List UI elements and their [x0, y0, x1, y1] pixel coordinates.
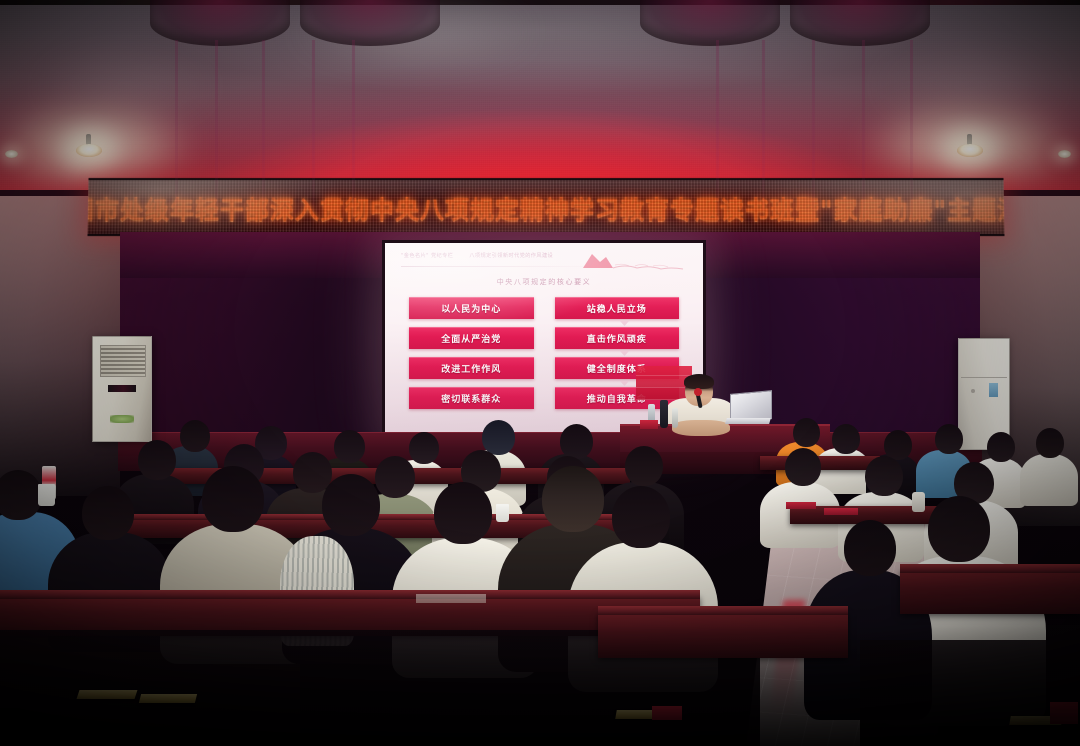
curtain-swag: [640, 0, 780, 46]
person-head: [434, 482, 492, 544]
curtain-swag: [300, 0, 440, 46]
slide-box-right-1: 站稳人民立场: [555, 297, 680, 319]
slide-box-left-2: 全面从严治党: [409, 327, 534, 349]
red-booklet: [1050, 702, 1078, 724]
curtain-swag: [150, 0, 290, 46]
thermos-cup: [660, 400, 668, 428]
slide-header-left-text: "金色名片" 党纪专栏: [401, 253, 453, 259]
spotlight-bulb: [957, 144, 983, 157]
foreground-desk-center: [598, 612, 848, 658]
foreground-desk-top-left: [0, 590, 700, 599]
slide-header-right-text: 八项规定引领新时代党的作风建设: [469, 253, 553, 259]
red-folder: [640, 420, 658, 429]
slide-header-rule: [401, 266, 597, 267]
person-head: [82, 486, 134, 540]
foreground-desk-right: [900, 570, 1080, 614]
person-head: [844, 520, 896, 576]
person-head: [1036, 428, 1064, 458]
person-head: [482, 420, 515, 455]
paper-cup: [496, 504, 509, 522]
gold-nameplate: [77, 690, 138, 699]
person-head: [612, 486, 670, 548]
led-banner-text: 益阳市处级年轻干部深入贯彻中央八项规定精神学习教育专题读书班暨"家庭助廉"主题活…: [87, 190, 1004, 225]
paper-cup: [38, 484, 55, 506]
person-head: [935, 424, 963, 454]
person-head: [785, 448, 821, 486]
person-head: [334, 430, 365, 463]
curtain-drape: [262, 40, 265, 230]
led-banner-display: 益阳市处级年轻干部深入贯彻中央八项规定精神学习教育专题读书班暨"家庭助廉"主题活…: [87, 178, 1004, 236]
ac-sensor-dot: [971, 389, 975, 393]
person-head: [375, 456, 415, 498]
ac-label-sticker: [989, 383, 998, 397]
paper-cup: [912, 492, 925, 512]
ac-control-panel: [108, 385, 136, 392]
ac-grille: [100, 345, 146, 377]
person-head: [322, 474, 380, 536]
person-head: [202, 466, 264, 532]
projection-screen: "金色名片" 党纪专栏八项规定引领新时代党的作风建设 中央八项规定的核心要义 以…: [385, 243, 703, 439]
person-head: [0, 470, 42, 520]
foreground-desk-top-right: [900, 564, 1080, 573]
person-head: [625, 446, 663, 486]
person-head: [832, 424, 860, 454]
slide-box-left-3: 改进工作作风: [409, 357, 534, 379]
foreground-dark-bench-right: [860, 640, 1080, 746]
curtain-drape: [175, 40, 178, 230]
ac-brand-logo: [110, 415, 134, 423]
ceiling-spotlight-far-right: [1058, 150, 1071, 158]
mountain-landscape-icon: [579, 250, 687, 272]
laptop-keyboard: [725, 418, 771, 424]
curtain-drape: [716, 40, 719, 230]
spotlight-bulb: [76, 144, 102, 157]
person-head: [180, 420, 210, 452]
microphone: [694, 388, 702, 396]
projection-screen-frame: "金色名片" 党纪专栏八项规定引领新时代党的作风建设 中央八项规定的核心要义 以…: [382, 240, 706, 442]
slide-box-right-2: 直击作风顽疾: [555, 327, 680, 349]
person-head: [928, 496, 990, 562]
curtain-swag: [790, 0, 930, 46]
person-head: [793, 418, 820, 447]
curtain-drape: [762, 40, 765, 230]
person-head: [138, 440, 176, 480]
curtain-drape: [812, 40, 815, 230]
person-torso: [1020, 454, 1078, 506]
person-head: [865, 456, 903, 496]
slide-box-left-1: 以人民为中心: [409, 297, 534, 319]
person-head: [542, 466, 604, 532]
curtain-drape: [862, 40, 865, 230]
water-bottle: [672, 408, 678, 428]
curtain-drape: [215, 40, 218, 230]
slide-box-left-4: 密切联系群众: [409, 387, 534, 409]
red-booklet: [786, 502, 816, 509]
gold-nameplate: [139, 694, 197, 703]
curtain-drape: [352, 40, 355, 230]
red-booklet: [652, 706, 682, 720]
white-paper: [416, 594, 486, 603]
red-booklet: [824, 508, 858, 515]
presenter-hair: [684, 374, 714, 389]
conference-room-photo: 益阳市处级年轻干部深入贯彻中央八项规定精神学习教育专题读书班暨"家庭助廉"主题活…: [0, 0, 1080, 746]
curtain-drape: [910, 40, 913, 230]
foreground-desk-top-center: [598, 606, 848, 615]
floor-standing-air-conditioner-left: [92, 336, 152, 442]
person-head: [409, 432, 439, 464]
presenter-arms: [672, 420, 730, 436]
slide-subtitle: 中央八项规定的核心要义: [385, 277, 703, 287]
ac-panel-seam: [961, 377, 1007, 378]
curtain-drape: [312, 40, 315, 230]
person-head: [987, 432, 1015, 462]
person-head: [560, 424, 593, 459]
slide-header: "金色名片" 党纪专栏八项规定引领新时代党的作风建设: [401, 252, 691, 270]
ceiling-spotlight-far-left: [5, 150, 18, 158]
